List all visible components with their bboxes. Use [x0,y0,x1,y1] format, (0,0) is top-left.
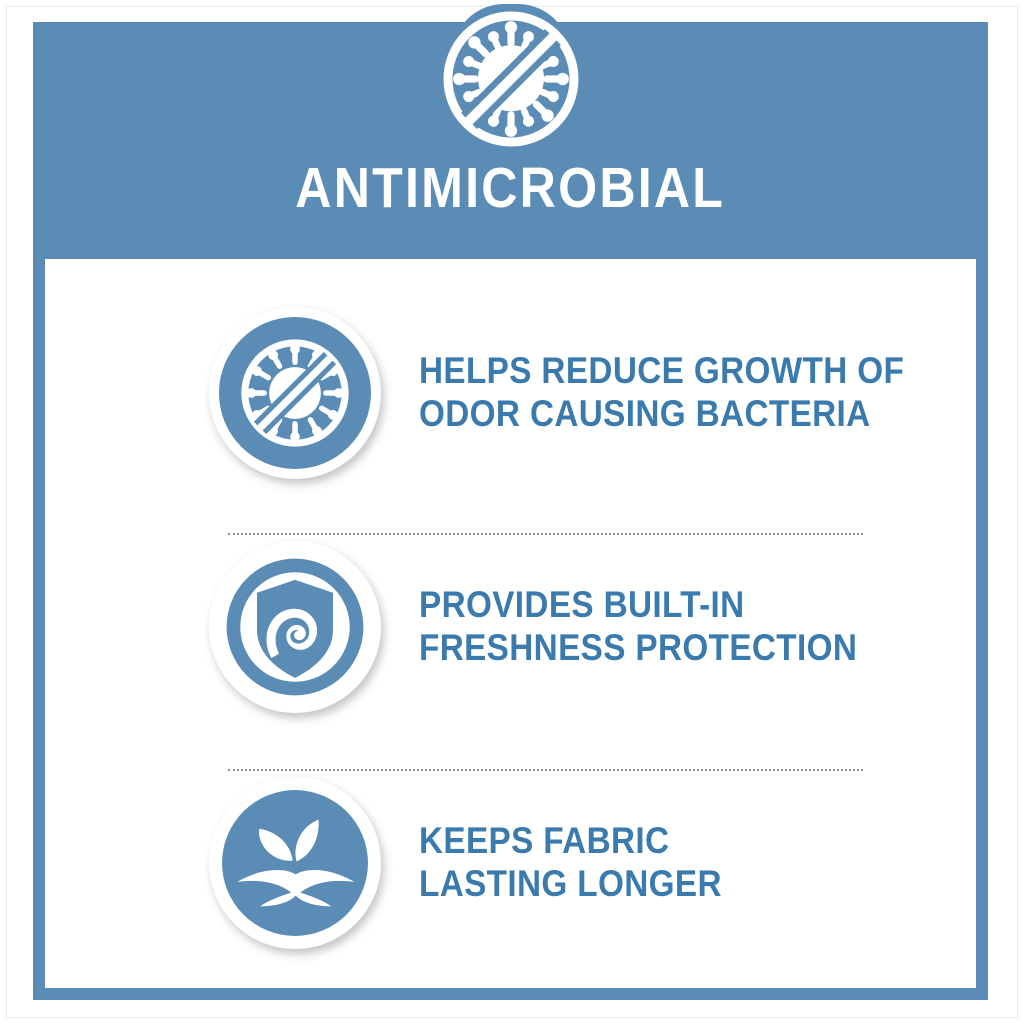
feature-row: HELPS REDUCE GROWTH OF ODOR CAUSING BACT… [45,287,976,499]
leaf-sprout-icon [219,787,371,939]
infographic-card: ANTIMICROBIAL [0,0,1024,1024]
feature-row: KEEPS FABRIC LASTING LONGER [45,757,976,969]
feature-line-2: LASTING LONGER [419,863,722,906]
page-title: ANTIMICROBIAL [296,160,726,217]
feature-line-1: HELPS REDUCE GROWTH OF [419,350,904,393]
feature-line-1: KEEPS FABRIC [419,820,722,863]
header: ANTIMICROBIAL [33,22,988,259]
icon-badge [209,777,381,949]
no-germ-circle-icon [219,317,371,469]
feature-line-2: FRESHNESS PROTECTION [419,627,857,670]
feature-row: PROVIDES BUILT-IN FRESHNESS PROTECTION [45,521,976,733]
icon-badge [209,541,381,713]
feature-line-1: PROVIDES BUILT-IN [419,584,857,627]
feature-text: HELPS REDUCE GROWTH OF ODOR CAUSING BACT… [419,350,904,436]
no-germ-icon [436,4,586,154]
icon-badge [209,307,381,479]
blue-frame: ANTIMICROBIAL [33,22,988,1000]
shield-swirl-icon [219,551,371,703]
feature-text: PROVIDES BUILT-IN FRESHNESS PROTECTION [419,584,857,670]
feature-line-2: ODOR CAUSING BACTERIA [419,393,904,436]
feature-list: HELPS REDUCE GROWTH OF ODOR CAUSING BACT… [45,263,976,988]
content-panel: HELPS REDUCE GROWTH OF ODOR CAUSING BACT… [45,259,976,988]
feature-text: KEEPS FABRIC LASTING LONGER [419,820,722,906]
